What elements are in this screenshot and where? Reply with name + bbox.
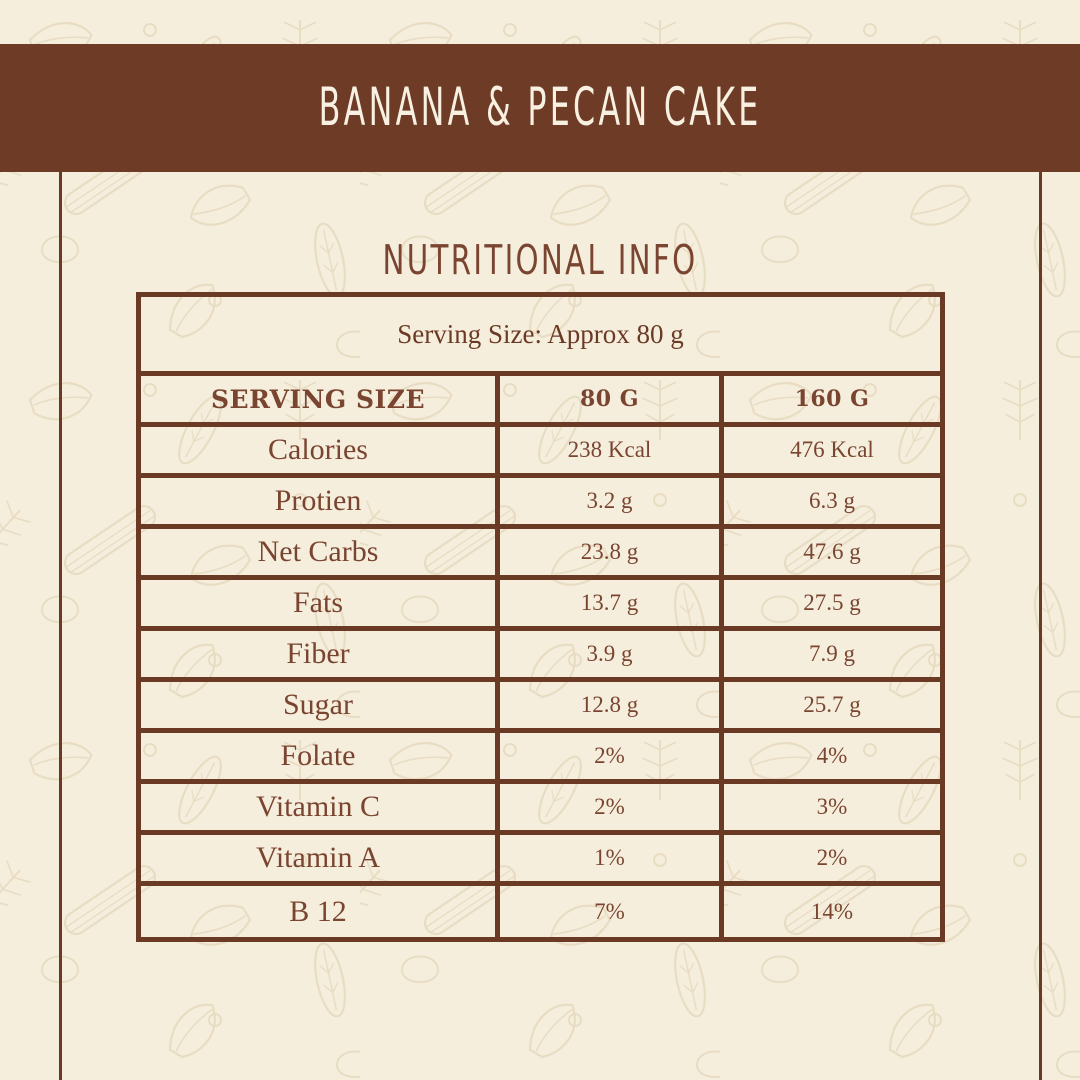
section-title: NUTRITIONAL INFO	[38, 238, 1042, 284]
table-row: Fats 13.7 g 27.5 g	[141, 580, 940, 631]
nutrient-value-160: 14%	[724, 886, 940, 937]
nutrient-value-80: 3.2 g	[500, 478, 724, 524]
table-row: Fiber 3.9 g 7.9 g	[141, 631, 940, 682]
header-banner: BANANA & PECAN CAKE	[0, 44, 1080, 172]
serving-size-note: Serving Size: Approx 80 g	[141, 297, 940, 376]
table-row: Protien 3.2 g 6.3 g	[141, 478, 940, 529]
column-header-serving-160: 160 G	[724, 376, 940, 422]
nutrient-value-80: 2%	[500, 733, 724, 779]
nutrient-value-160: 476 Kcal	[724, 427, 940, 473]
nutrient-label: Calories	[141, 427, 500, 473]
nutrient-value-160: 25.7 g	[724, 682, 940, 728]
nutrient-value-160: 47.6 g	[724, 529, 940, 575]
table-row: Net Carbs 23.8 g 47.6 g	[141, 529, 940, 580]
content-area: NUTRITIONAL INFO Serving Size: Approx 80…	[0, 172, 1080, 1080]
nutrient-label: Protien	[141, 478, 500, 524]
nutrient-label: Sugar	[141, 682, 500, 728]
nutrient-value-160: 2%	[724, 835, 940, 881]
nutrient-label: Folate	[141, 733, 500, 779]
nutrient-value-80: 12.8 g	[500, 682, 724, 728]
nutrient-value-80: 7%	[500, 886, 724, 937]
table-row: B 12 7% 14%	[141, 886, 940, 937]
nutrient-value-80: 1%	[500, 835, 724, 881]
nutrient-label: B 12	[141, 886, 500, 937]
table-header-row: SERVING SIZE 80 G 160 G	[141, 376, 940, 427]
table-row: Vitamin C 2% 3%	[141, 784, 940, 835]
nutrient-value-160: 3%	[724, 784, 940, 830]
recipe-title: BANANA & PECAN CAKE	[318, 78, 761, 139]
table-row: Folate 2% 4%	[141, 733, 940, 784]
nutrient-value-160: 6.3 g	[724, 478, 940, 524]
nutrient-value-80: 13.7 g	[500, 580, 724, 626]
nutrient-value-80: 23.8 g	[500, 529, 724, 575]
nutrient-label: Vitamin C	[141, 784, 500, 830]
table-row: Calories 238 Kcal 476 Kcal	[141, 427, 940, 478]
column-header-nutrient: SERVING SIZE	[141, 376, 500, 422]
nutrient-value-160: 27.5 g	[724, 580, 940, 626]
column-header-serving-80: 80 G	[500, 376, 724, 422]
table-row: Sugar 12.8 g 25.7 g	[141, 682, 940, 733]
table-row: Vitamin A 1% 2%	[141, 835, 940, 886]
nutrient-label: Fats	[141, 580, 500, 626]
nutrient-label: Vitamin A	[141, 835, 500, 881]
nutrition-table: Serving Size: Approx 80 g SERVING SIZE 8…	[136, 292, 945, 942]
nutrient-value-80: 238 Kcal	[500, 427, 724, 473]
nutrient-value-80: 2%	[500, 784, 724, 830]
nutrient-value-160: 7.9 g	[724, 631, 940, 677]
nutrient-label: Net Carbs	[141, 529, 500, 575]
nutrient-label: Fiber	[141, 631, 500, 677]
nutrient-value-160: 4%	[724, 733, 940, 779]
nutrient-value-80: 3.9 g	[500, 631, 724, 677]
